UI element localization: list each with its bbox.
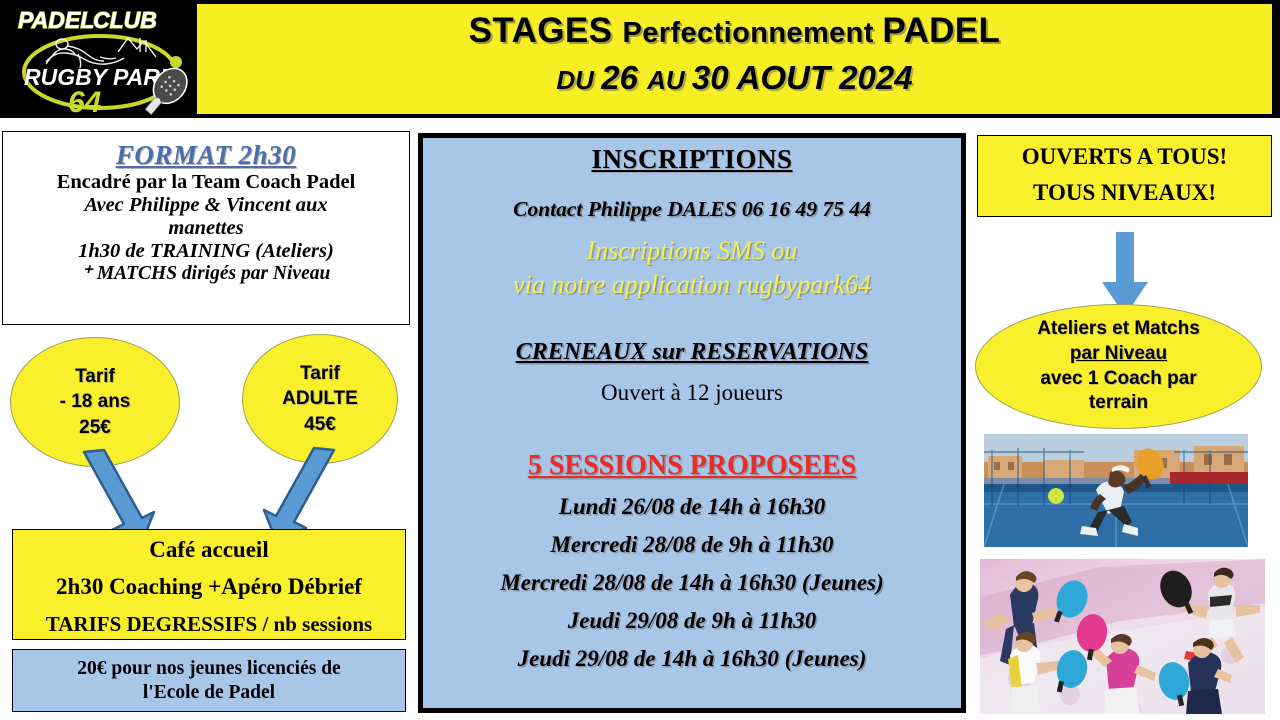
- niveau-line-4: terrain: [1089, 391, 1148, 416]
- ouverts-line-2: TOUS NIVEAUX!: [978, 180, 1271, 206]
- event-dates-rest: 30 AOUT 2024: [692, 59, 913, 96]
- event-dates-26: 26: [601, 59, 647, 96]
- format-box: FORMAT 2h30 Encadré par la Team Coach Pa…: [2, 131, 410, 325]
- svg-text:64: 64: [68, 86, 102, 118]
- photo-padel-court-art: [984, 434, 1248, 547]
- session-item: Jeudi 29/08 de 14h à 16h30 (Jeunes): [423, 646, 961, 672]
- event-title-part1: STAGES: [469, 11, 623, 50]
- event-title-banner: STAGES Perfectionnement PADEL DU 26 AU 3…: [197, 4, 1272, 114]
- tarif-adulte-category: ADULTE: [282, 386, 358, 411]
- format-line-1: Encadré par la Team Coach Padel: [3, 171, 409, 194]
- svg-text:PADEL: PADEL: [18, 7, 94, 33]
- format-line-5: ⁺ MATCHS dirigés par Niveau: [3, 263, 409, 285]
- ouverts-a-tous-box: OUVERTS A TOUS! TOUS NIVEAUX!: [977, 135, 1272, 217]
- sms-line-2: via notre application rugbypark64: [423, 268, 961, 302]
- tarif-jeune-price: 25€: [79, 415, 111, 440]
- format-line-3: manettes: [3, 217, 409, 240]
- cafe-line-3: TARIFS DEGRESSIFS / nb sessions: [13, 612, 405, 637]
- format-line-4: 1h30 de TRAINING (Ateliers): [3, 240, 409, 263]
- svg-text:CLUB: CLUB: [93, 7, 157, 33]
- ateliers-niveau-ellipse: Ateliers et Matchs par Niveau avec 1 Coa…: [975, 304, 1262, 429]
- event-dates: DU 26 AU 30 AOUT 2024: [197, 48, 1272, 94]
- session-item: Lundi 26/08 de 14h à 16h30: [423, 494, 961, 520]
- arrow-down-left-icon: [262, 446, 340, 542]
- event-title: STAGES Perfectionnement PADEL: [197, 4, 1272, 48]
- event-title-part2: Perfectionnement: [623, 17, 883, 49]
- format-title: FORMAT 2h30: [3, 140, 409, 171]
- ouverts-line-1: OUVERTS A TOUS!: [978, 144, 1271, 170]
- tarif-adulte-ellipse: Tarif ADULTE 45€: [242, 334, 398, 464]
- ecole-padel-box: 20€ pour nos jeunes licenciés de l'Ecole…: [12, 649, 406, 712]
- inscriptions-panel: INSCRIPTIONS Contact Philippe DALES 06 1…: [418, 133, 966, 713]
- tarif-jeune-category: - 18 ans: [60, 389, 131, 414]
- sessions-title: 5 SESSIONS PROPOSEES: [423, 450, 961, 482]
- format-line-2: Avec Philippe & Vincent aux: [3, 194, 409, 217]
- tarif-jeune-label: Tarif: [75, 364, 115, 389]
- cafe-line-2: 2h30 Coaching +Apéro Débrief: [13, 574, 405, 600]
- niveau-line-1: Ateliers et Matchs: [1037, 317, 1200, 342]
- header-banner: PADEL CLUB RUGBY PARK 64 STAGES Perfecti…: [0, 0, 1280, 118]
- session-item: Mercredi 28/08 de 9h à 11h30: [423, 532, 961, 558]
- event-title-part3: PADEL: [882, 11, 1000, 50]
- photo-padel-court: [984, 434, 1248, 547]
- photo-women-players-art: [980, 559, 1265, 714]
- session-item: Mercredi 28/08 de 14h à 16h30 (Jeunes): [423, 570, 961, 596]
- tarif-adulte-price: 45€: [304, 412, 336, 437]
- inscriptions-title: INSCRIPTIONS: [423, 144, 961, 175]
- sms-line-1: Inscriptions SMS ou: [423, 234, 961, 268]
- contact-info: Contact Philippe DALES 06 16 49 75 44: [423, 197, 961, 222]
- ouvert-joueurs: Ouvert à 12 joueurs: [423, 380, 961, 406]
- event-dates-du: DU: [556, 65, 601, 95]
- logo-artwork: PADEL CLUB RUGBY PARK 64: [0, 0, 197, 118]
- ecole-line-1: 20€ pour nos jeunes licenciés de: [77, 657, 340, 680]
- cafe-accueil-box: Café accueil 2h30 Coaching +Apéro Débrie…: [12, 529, 406, 640]
- ecole-line-2: l'Ecole de Padel: [77, 681, 340, 704]
- niveau-line-2: par Niveau: [1070, 342, 1167, 367]
- event-dates-au: AU: [647, 65, 692, 95]
- session-item: Jeudi 29/08 de 9h à 11h30: [423, 608, 961, 634]
- creneaux-heading: CRENEAUX sur RESERVATIONS: [423, 339, 961, 366]
- club-logo: PADEL CLUB RUGBY PARK 64: [0, 0, 197, 118]
- tarif-adulte-label: Tarif: [300, 361, 340, 386]
- niveau-line-3: avec 1 Coach par: [1040, 367, 1196, 392]
- photo-women-players: [980, 559, 1265, 714]
- cafe-line-1: Café accueil: [13, 537, 405, 563]
